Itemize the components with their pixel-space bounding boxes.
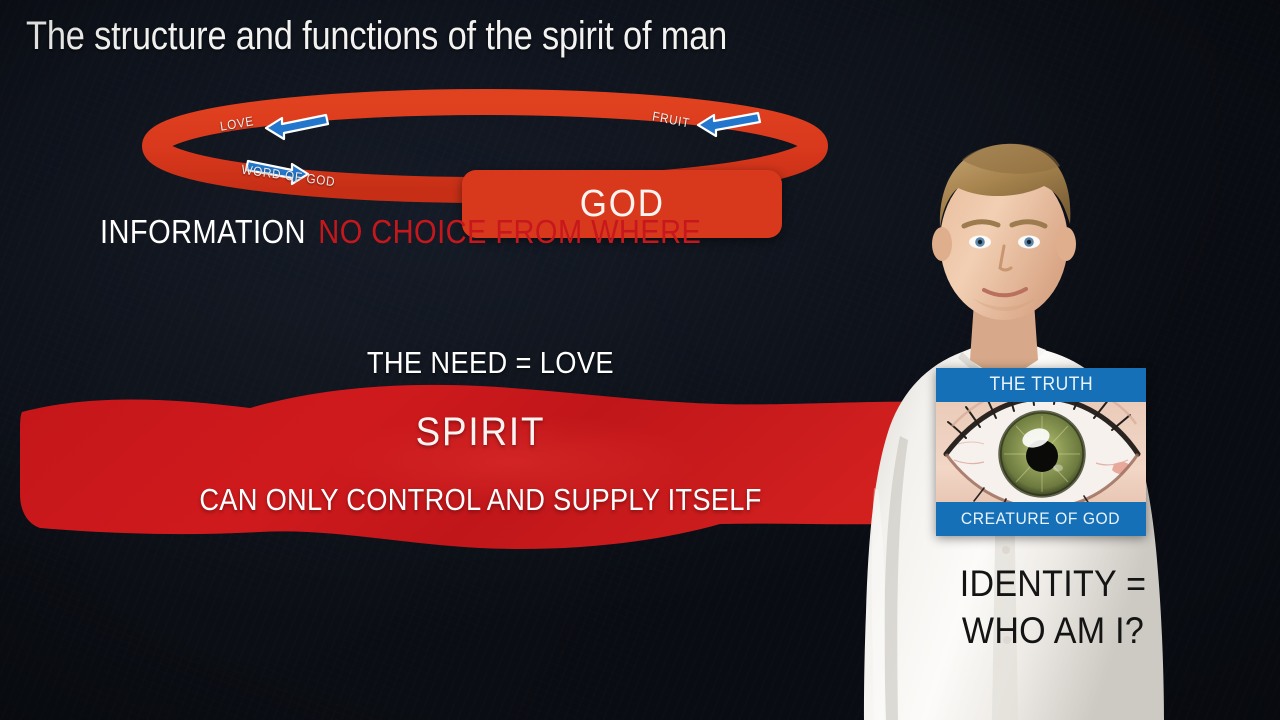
need-text: THE NEED = LOVE	[366, 345, 613, 381]
creature-of-god-label: CREATURE OF GOD	[961, 509, 1120, 529]
the-truth-label: THE TRUTH	[989, 374, 1093, 396]
left-arrow-icon	[266, 115, 328, 139]
identity-line-2: WHO AM I?	[947, 607, 1159, 654]
supply-text: CAN ONLY CONTROL AND SUPPLY ITSELF	[199, 482, 761, 518]
spirit-text: SPIRIT	[415, 410, 545, 455]
presenter-head	[932, 144, 1076, 320]
information-line: INFORMATIONNO CHOICE FROM WHERE	[100, 215, 701, 248]
cycle-diagram: LOVE WORD OF GOD FRUIT GOD	[140, 82, 830, 208]
identity-text: IDENTITY = WHO AM I?	[938, 560, 1168, 655]
no-choice-label: NO CHOICE FROM WHERE	[318, 213, 701, 250]
page-title: The structure and functions of the spiri…	[26, 16, 727, 56]
identity-line-1: IDENTITY =	[947, 560, 1159, 607]
eye-card-top-banner: THE TRUTH	[936, 368, 1146, 402]
eye-card-bottom-banner: CREATURE OF GOD	[936, 502, 1146, 536]
left-arrow-icon-2	[698, 113, 760, 136]
eye-truth-card: THE TRUTH CREATURE OF GOD	[936, 368, 1146, 536]
presentation-slide: The structure and functions of the spiri…	[0, 0, 1280, 720]
information-label: INFORMATION	[100, 213, 306, 250]
